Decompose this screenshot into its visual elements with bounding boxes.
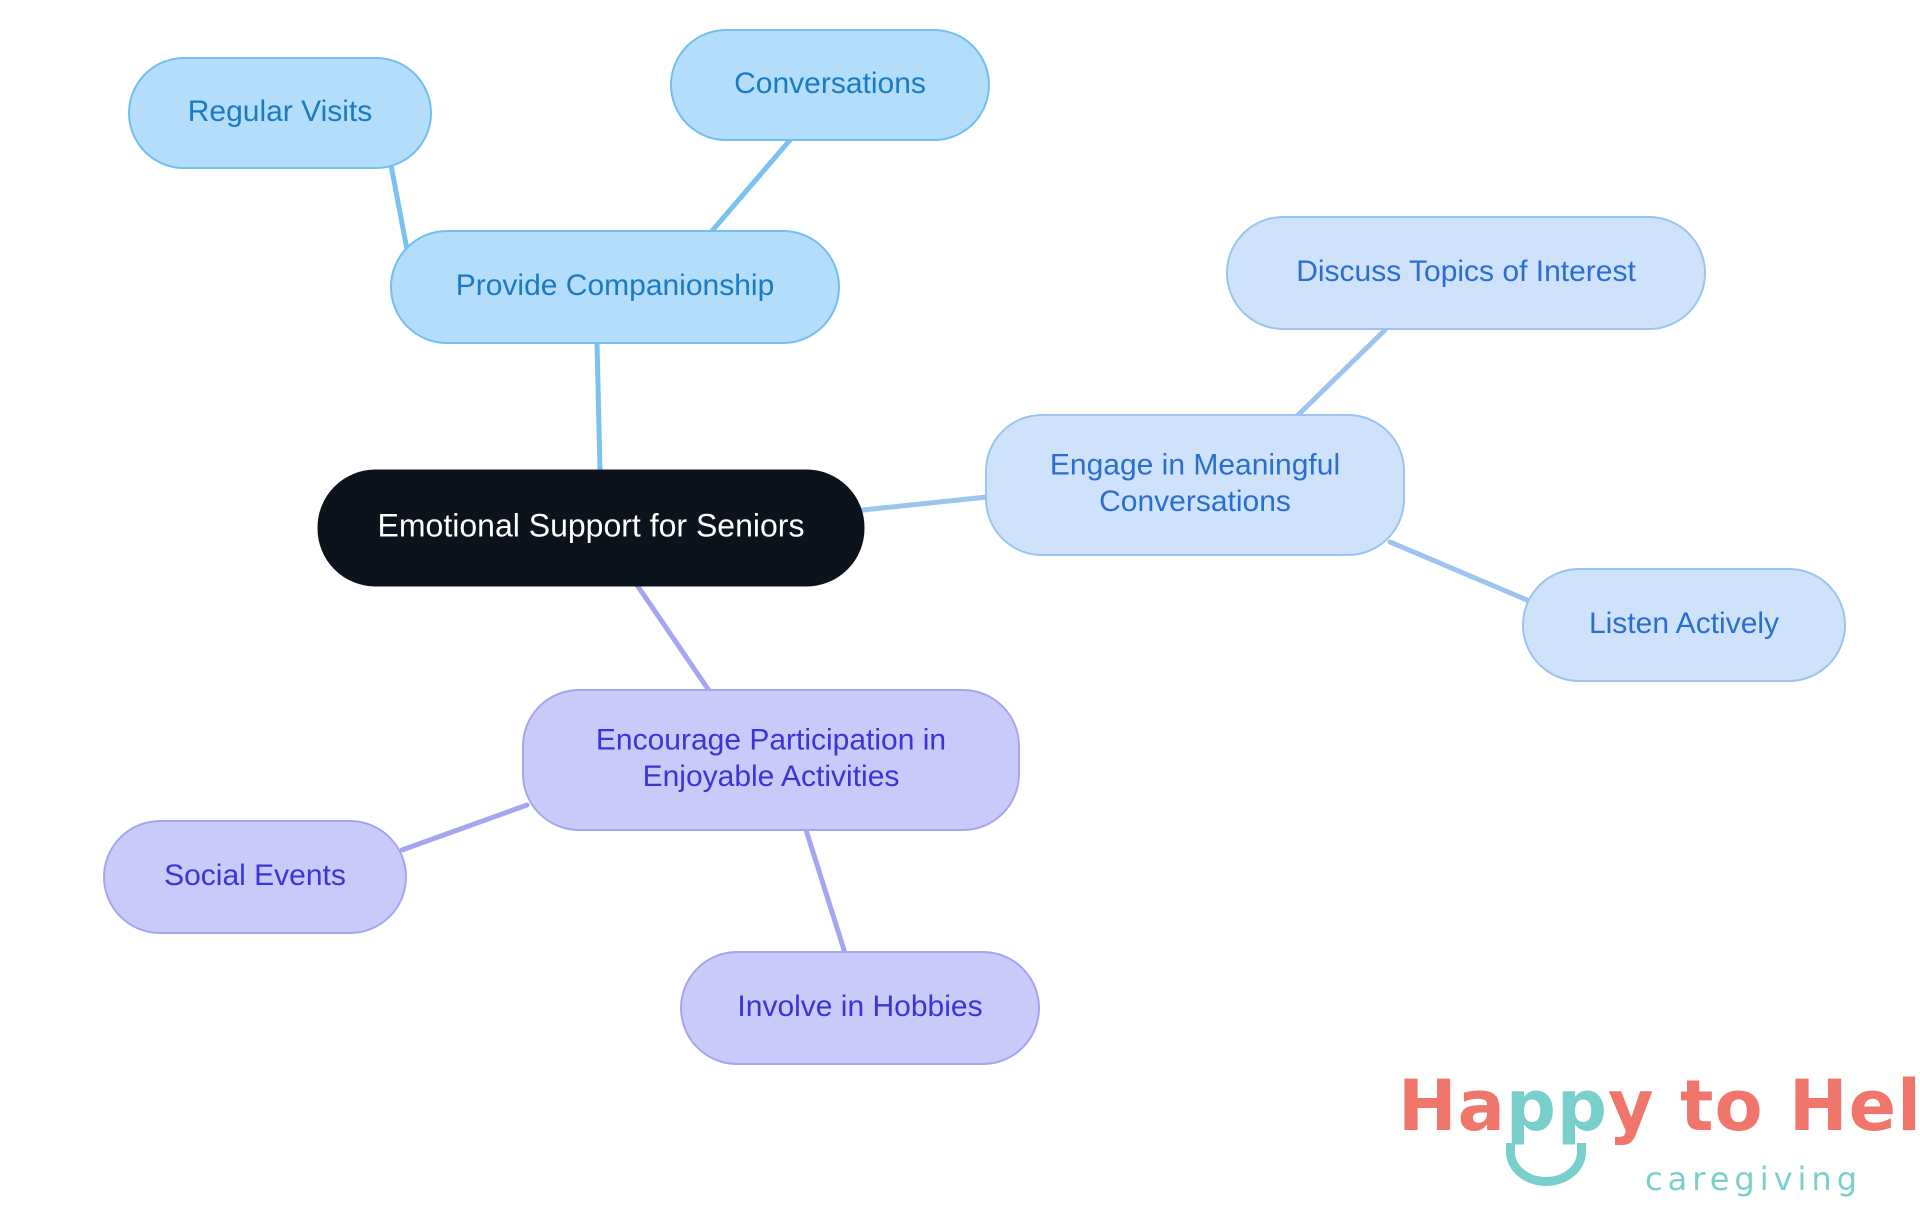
logo-text-y: y xyxy=(1608,1065,1655,1147)
node-label-engage-meaningful-conversations: Conversations xyxy=(1099,485,1291,518)
node-discuss-topics-of-interest[interactable]: Discuss Topics of Interest xyxy=(1227,217,1705,329)
node-social-events[interactable]: Social Events xyxy=(104,821,406,933)
node-label-encourage-participation: Enjoyable Activities xyxy=(643,760,900,793)
logo-tagline: caregiving xyxy=(1645,1163,1862,1195)
edge-root-to-provide-companionship xyxy=(597,343,600,470)
logo-text-ha: Ha xyxy=(1398,1065,1506,1147)
logo-text-to-help: to Help xyxy=(1655,1065,1920,1147)
node-label-regular-visits: Regular Visits xyxy=(188,95,373,128)
node-regular-visits[interactable]: Regular Visits xyxy=(129,58,431,168)
node-label-provide-companionship: Provide Companionship xyxy=(456,269,775,302)
logo-wordmark: Happy to Help xyxy=(1398,1071,1920,1141)
node-label-conversations: Conversations xyxy=(734,67,926,100)
brand-logo: Happy to Help caregiving xyxy=(1398,1071,1868,1201)
node-root[interactable]: Emotional Support for Seniors xyxy=(319,471,864,586)
node-label-engage-meaningful-conversations: Engage in Meaningful xyxy=(1050,449,1340,482)
node-label-discuss-topics-of-interest: Discuss Topics of Interest xyxy=(1296,255,1636,288)
node-label-social-events: Social Events xyxy=(164,859,346,892)
node-engage-meaningful-conversations[interactable]: Engage in MeaningfulConversations xyxy=(986,415,1404,555)
node-encourage-participation[interactable]: Encourage Participation inEnjoyable Acti… xyxy=(523,690,1019,830)
node-label-involve-in-hobbies: Involve in Hobbies xyxy=(737,990,982,1023)
node-listen-actively[interactable]: Listen Actively xyxy=(1523,569,1845,681)
node-involve-in-hobbies[interactable]: Involve in Hobbies xyxy=(681,952,1039,1064)
node-conversations[interactable]: Conversations xyxy=(671,30,989,140)
logo-smile-icon xyxy=(1506,1143,1586,1186)
node-label-encourage-participation: Encourage Participation in xyxy=(596,724,946,757)
node-label-listen-actively: Listen Actively xyxy=(1589,607,1779,640)
node-provide-companionship[interactable]: Provide Companionship xyxy=(391,231,839,343)
mind-map-canvas: Emotional Support for SeniorsProvide Com… xyxy=(0,0,1920,1215)
node-label-root: Emotional Support for Seniors xyxy=(378,507,805,543)
logo-text-pp: pp xyxy=(1506,1065,1608,1147)
